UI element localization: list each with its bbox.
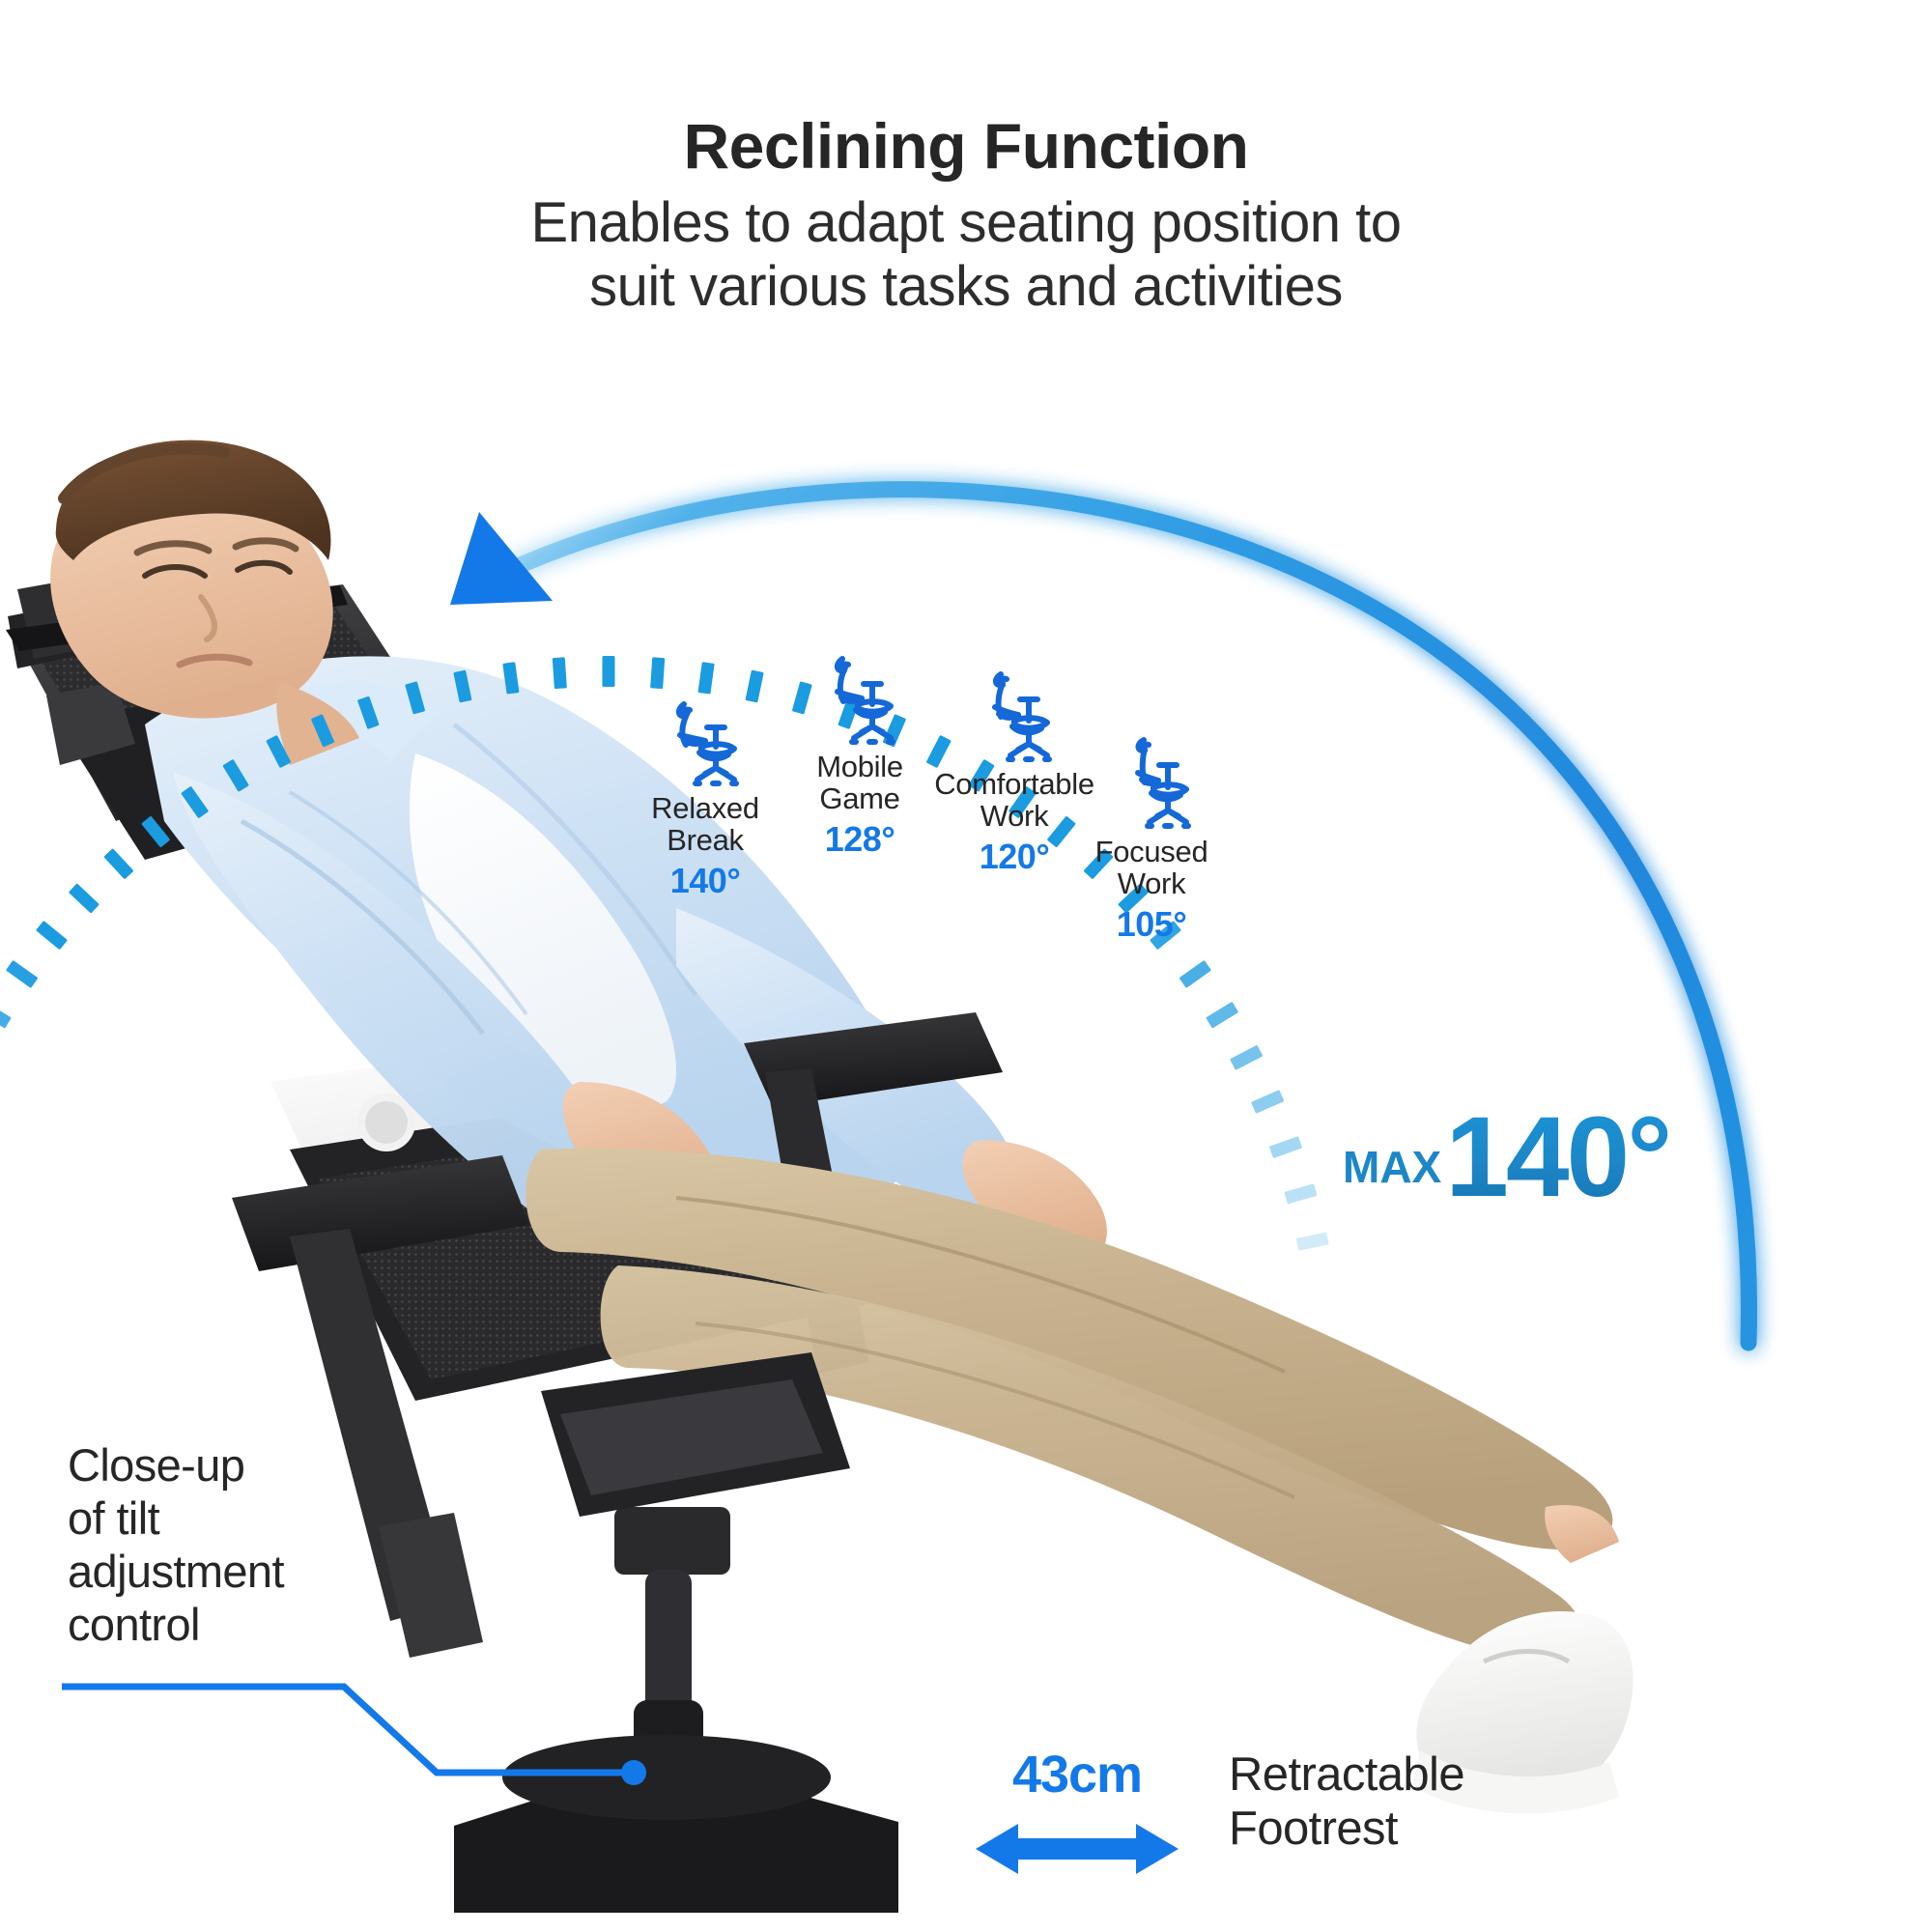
- double-arrow-icon: [976, 1818, 1179, 1880]
- gauge-tick: [1179, 960, 1211, 988]
- office-chair-icon: [813, 649, 906, 750]
- subtitle-line-1: Enables to adapt seating position to: [0, 191, 1932, 255]
- angle-stop-value: 140°: [594, 861, 816, 901]
- office-chair-icon: [1105, 734, 1198, 835]
- max-angle-badge: MAX 140°: [1343, 1109, 1669, 1207]
- footrest-label-block: Retractable Footrest: [1229, 1748, 1464, 1857]
- infographic-canvas: Reclining Function Enables to adapt seat…: [0, 0, 1932, 1932]
- footrest-measure-value: 43cm: [976, 1748, 1179, 1801]
- gauge-tick: [1269, 1136, 1303, 1158]
- gauge-tick: [502, 662, 519, 694]
- footrest-label-line-2: Footrest: [1229, 1803, 1464, 1857]
- gauge-tick: [697, 662, 714, 694]
- page-subtitle: Enables to adapt seating position to sui…: [0, 191, 1932, 319]
- gauge-tick: [453, 670, 471, 703]
- gauge-tick: [1251, 1090, 1285, 1114]
- gauge-tick: [650, 657, 665, 689]
- max-prefix-label: MAX: [1343, 1141, 1441, 1207]
- angle-stop-value: 105°: [1040, 904, 1263, 945]
- gauge-tick: [1296, 1232, 1329, 1250]
- page-title: Reclining Function: [0, 114, 1932, 178]
- gauge-tick: [1230, 1045, 1263, 1070]
- gauge-tick: [553, 657, 567, 689]
- callout-leader-line: [58, 1565, 696, 1835]
- callout-retractable-footrest: 43cm Retractable Footrest: [976, 1748, 1594, 1880]
- gauge-tick: [405, 681, 425, 714]
- gauge-tick: [603, 656, 615, 687]
- gauge-tick: [1284, 1183, 1317, 1204]
- callout-line-1: Close-up: [68, 1439, 386, 1492]
- max-angle-value: 140°: [1445, 1109, 1669, 1207]
- angle-stop-label: Focused Work: [1040, 837, 1263, 900]
- angle-stop-focused-work[interactable]: Focused Work 105°: [1040, 734, 1263, 945]
- subtitle-line-2: suit various tasks and activities: [0, 255, 1932, 319]
- office-chair-icon: [659, 691, 752, 791]
- header-block: Reclining Function Enables to adapt seat…: [0, 114, 1932, 319]
- callout-line-2: of tilt: [68, 1492, 386, 1546]
- gauge-tick: [1206, 1002, 1238, 1029]
- footrest-measure-block: 43cm: [976, 1748, 1179, 1880]
- footrest-label-line-1: Retractable: [1229, 1748, 1464, 1803]
